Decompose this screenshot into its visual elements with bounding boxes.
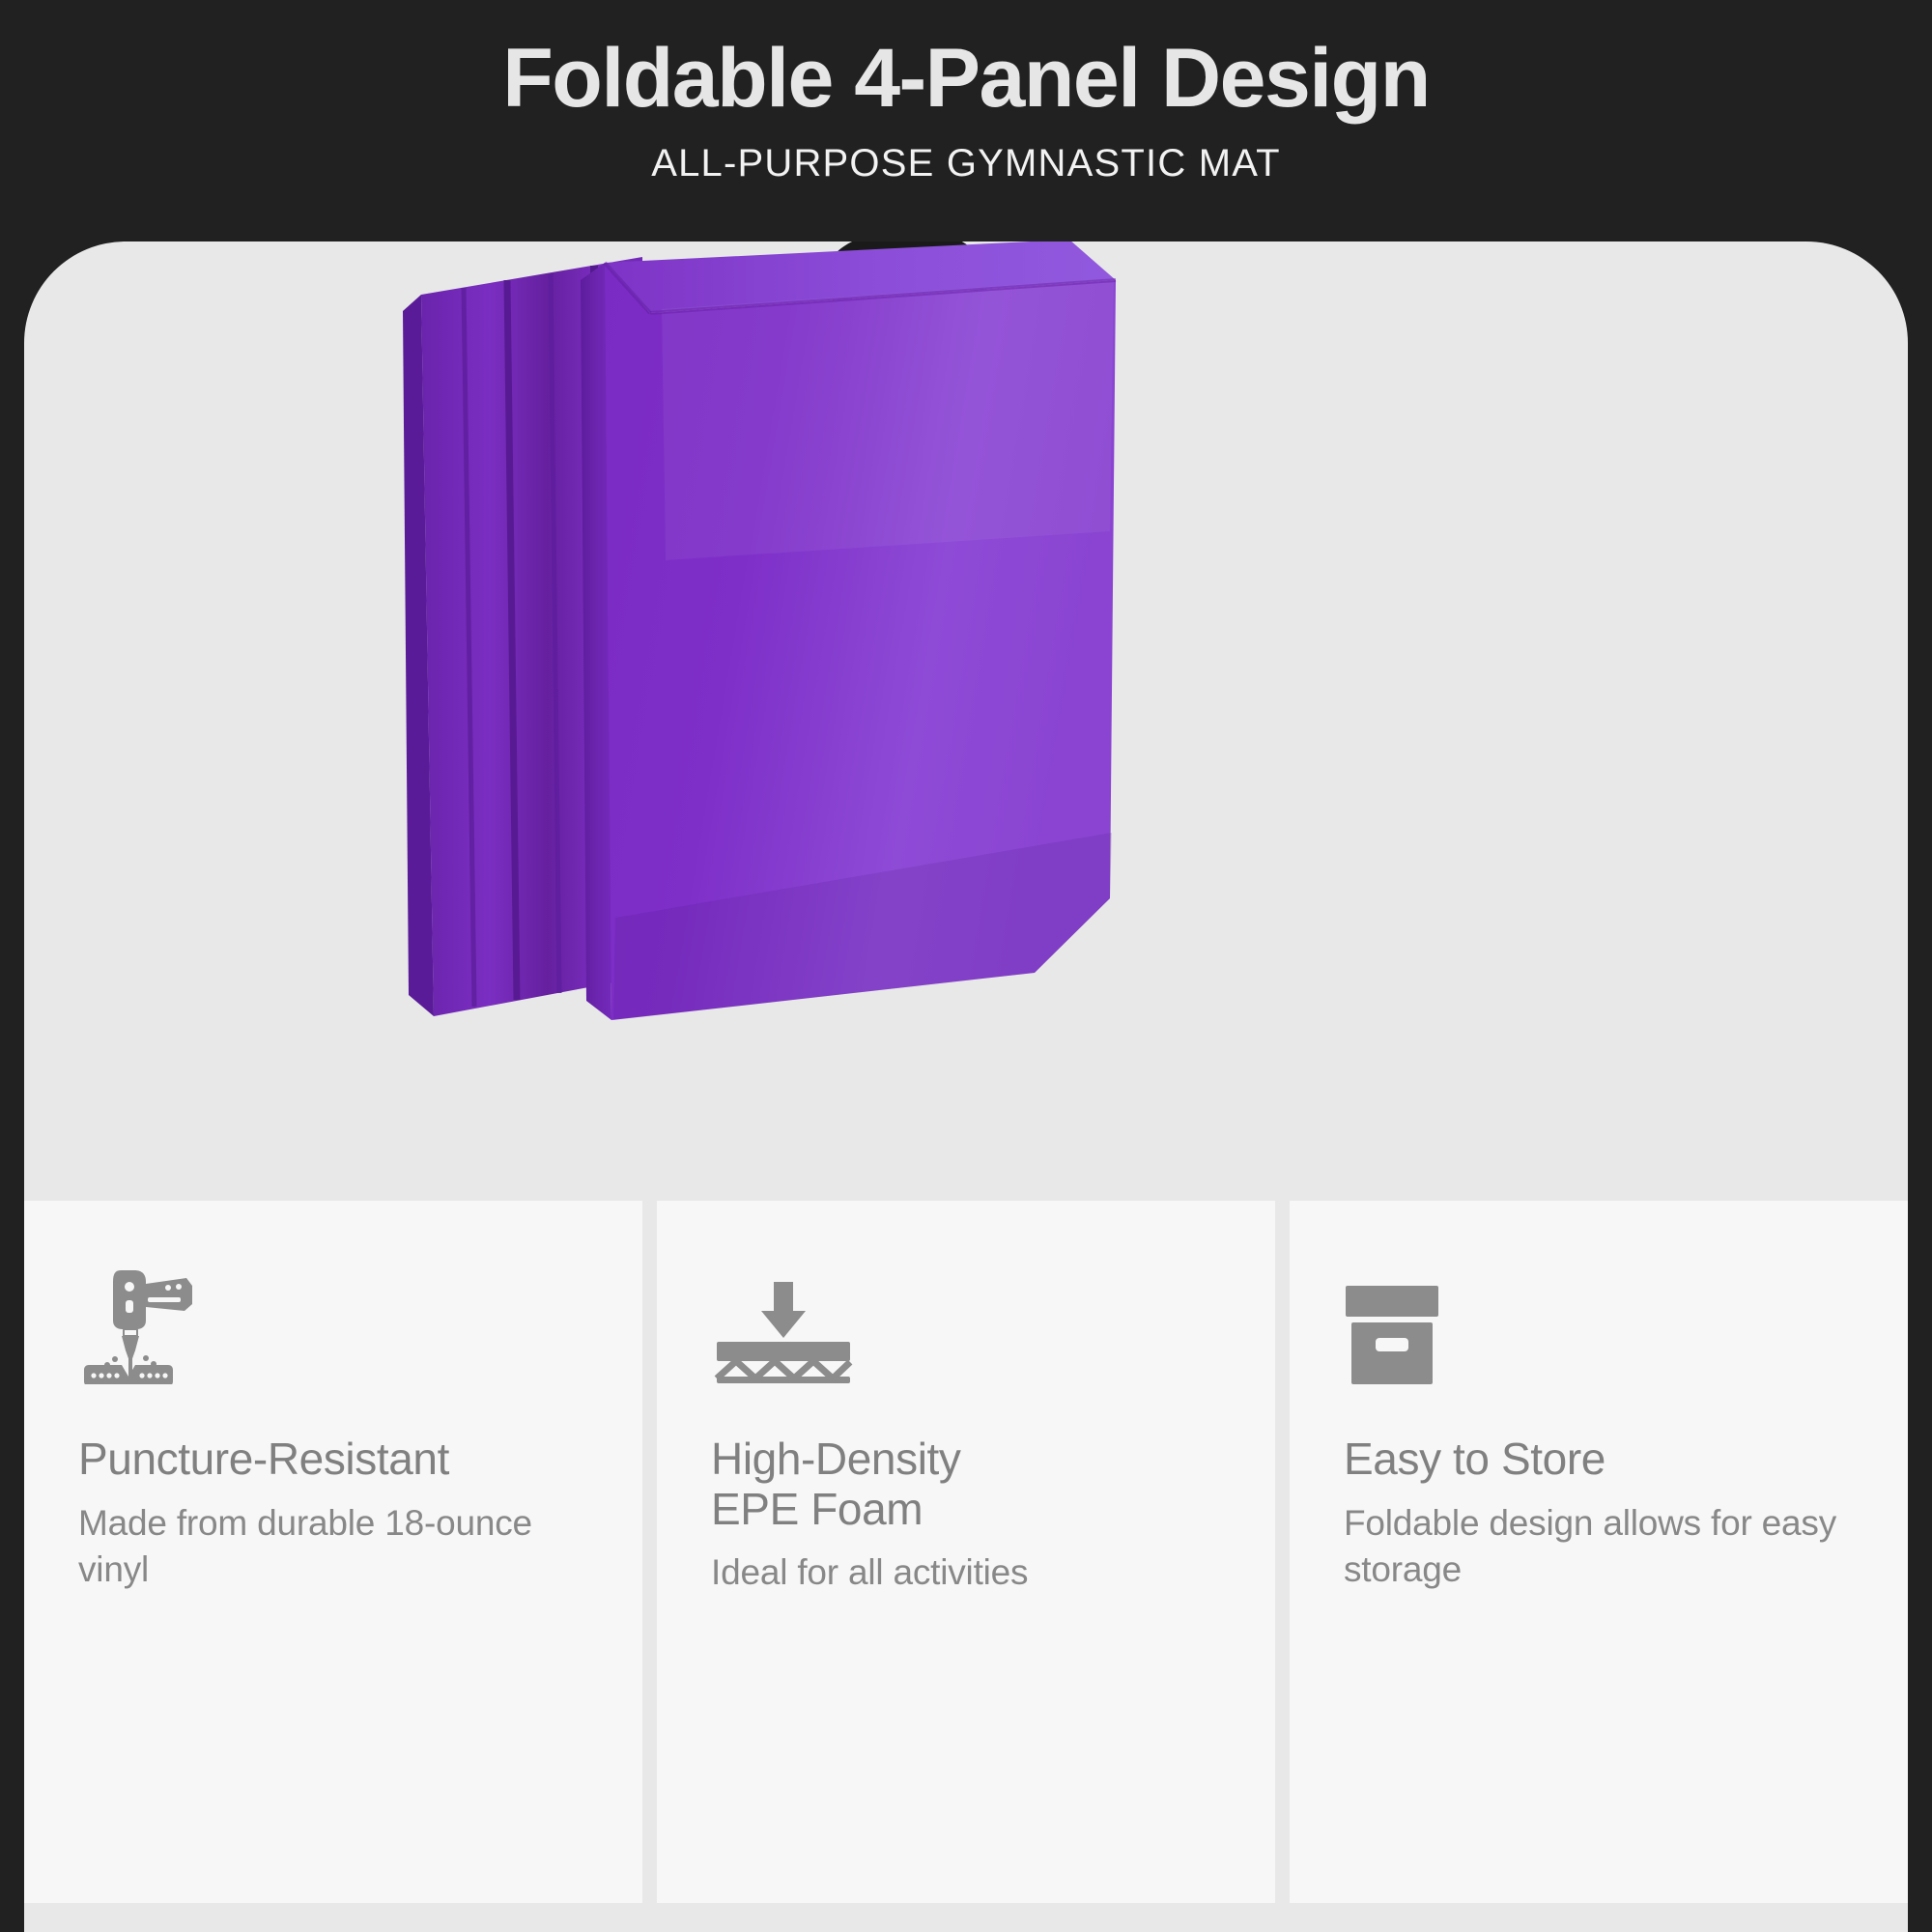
feature-card-title: High-Density EPE Foam	[711, 1435, 1221, 1534]
feature-card-title: Easy to Store	[1344, 1435, 1854, 1485]
mat-left-edge	[581, 263, 611, 1020]
feature-card-puncture-resistant[interactable]: Puncture-Resistant Made from durable 18-…	[24, 1201, 642, 1903]
feature-card-description: Ideal for all activities	[711, 1549, 1221, 1596]
mat-front-face	[605, 263, 1116, 1020]
feature-card-description: Made from durable 18-ounce vinyl	[78, 1500, 588, 1593]
mat-folded-panels	[403, 257, 650, 1016]
feature-card-high-density-epe-foam[interactable]: High-Density EPE Foam Ideal for all acti…	[657, 1201, 1275, 1903]
feature-card-title: Puncture-Resistant	[78, 1435, 588, 1485]
feature-card-row: Puncture-Resistant Made from durable 18-…	[24, 1201, 1908, 1903]
mat-top-face	[605, 241, 1116, 313]
foam-compression-icon-svg	[711, 1268, 856, 1384]
carry-handle-icon	[825, 241, 990, 313]
feature-card-easy-to-store[interactable]: Easy to Store Foldable design allows for…	[1290, 1201, 1908, 1903]
foam-compression-icon	[711, 1268, 1221, 1384]
puncture-drill-icon	[78, 1268, 588, 1384]
storage-box-icon	[1344, 1268, 1854, 1384]
storage-box-icon-svg	[1344, 1268, 1440, 1384]
page-title: Foldable 4-Panel Design	[0, 0, 1932, 125]
product-infographic: Foldable 4-Panel Design ALL-PURPOSE GYMN…	[0, 0, 1932, 1932]
header-banner: Foldable 4-Panel Design ALL-PURPOSE GYMN…	[0, 0, 1932, 241]
page-subtitle: ALL-PURPOSE GYMNASTIC MAT	[0, 125, 1932, 185]
feature-card-description: Foldable design allows for easy storage	[1344, 1500, 1854, 1593]
puncture-drill-icon-svg	[78, 1268, 206, 1384]
